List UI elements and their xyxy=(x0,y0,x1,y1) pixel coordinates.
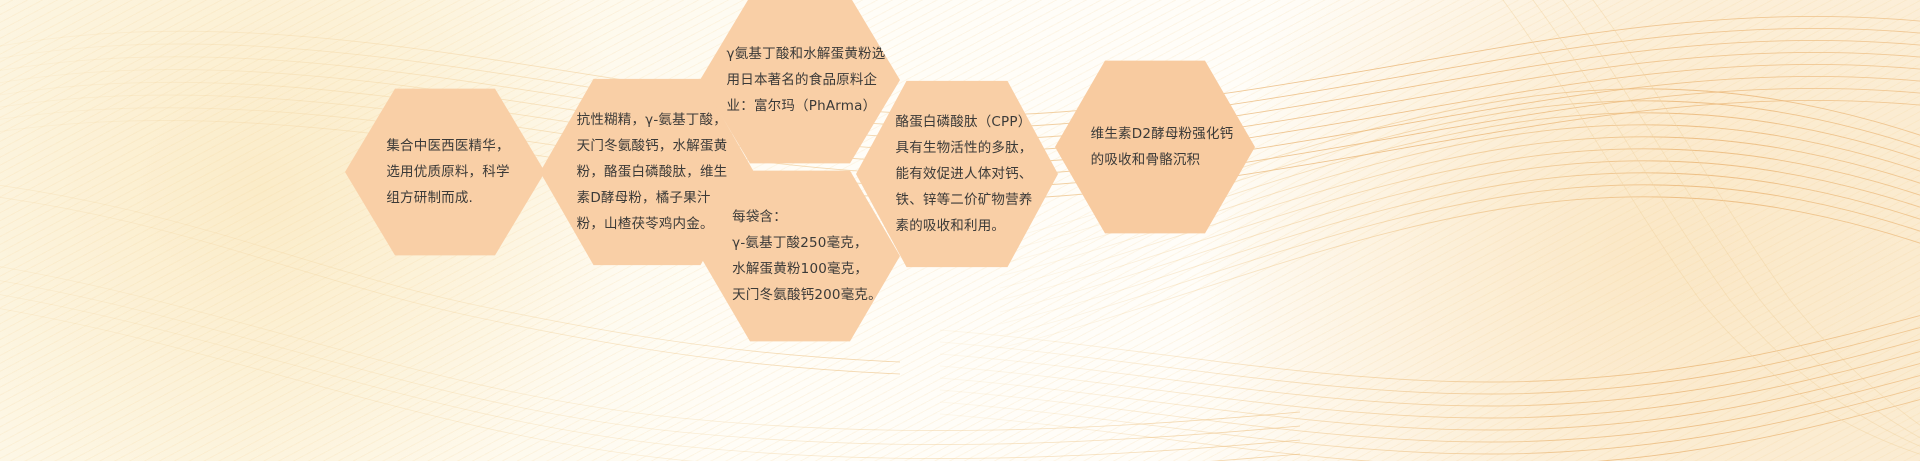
infographic-canvas: 集合中医西医精华， 选用优质原料，科学 组方研制而成. 抗性糊精，γ-氨基丁酸，… xyxy=(0,0,1920,461)
hexagon-formula-essence: 集合中医西医精华， 选用优质原料，科学 组方研制而成. xyxy=(345,86,545,258)
hexagon-cpp-function-text: 酪蛋白磷酸肽（CPP） 具有生物活性的多肽， 能有效促进人体对钙、 铁、锌等二价… xyxy=(882,109,1033,239)
hexagon-formula-essence-text: 集合中医西医精华， 选用优质原料，科学 组方研制而成. xyxy=(380,133,509,211)
hexagon-vitamin-d2-function: 维生素D2酵母粉强化钙 的吸收和骨骼沉积 xyxy=(1055,58,1255,236)
hexagon-ingredient-list-text: 抗性糊精，γ-氨基丁酸， 天门冬氨酸钙，水解蛋黄 粉，酪蛋白磷酸肽，维生 素D酵… xyxy=(567,107,728,237)
hexagon-vitamin-d2-function-text: 维生素D2酵母粉强化钙 的吸收和骨骼沉积 xyxy=(1077,121,1234,173)
hexagon-raw-material-source-text: γ氨基丁酸和水解蛋黄粉选 用日本著名的食品原料企 业：富尔玛（PhArma） xyxy=(715,41,886,119)
hexagon-per-sachet-content-text: 每袋含： γ-氨基丁酸250毫克， 水解蛋黄粉100毫克， 天门冬氨酸钙200毫… xyxy=(718,204,882,308)
hexagon-grid: 集合中医西医精华， 选用优质原料，科学 组方研制而成. 抗性糊精，γ-氨基丁酸，… xyxy=(0,0,1920,461)
